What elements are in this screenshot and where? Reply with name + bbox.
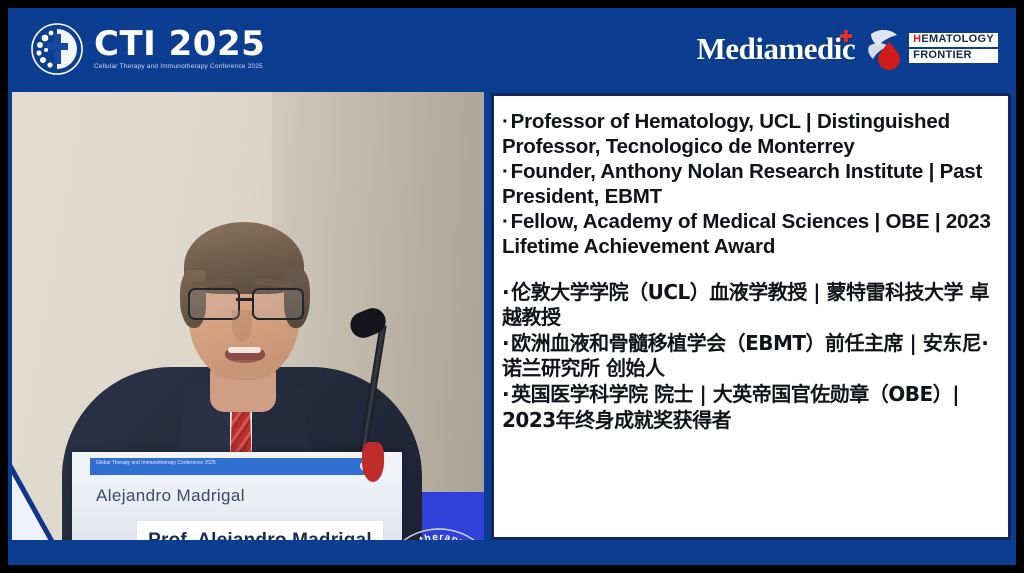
nose (232, 310, 252, 342)
chinese-bullet-list: 伦敦大学学院（UCL）血液学教授 | 蒙特雷科技大学 卓越教授 欧洲血液和骨髓移… (502, 280, 998, 433)
list-item: Founder, Anthony Nolan Research Institut… (502, 160, 998, 209)
mediamedic-wordmark: Mediamedic (697, 31, 856, 66)
podium-band-text: Global Therapy and Immunotherapy Confere… (96, 460, 216, 467)
podium-nameplate: Alejandro Madrigal (96, 486, 245, 506)
glasses-bridge (236, 298, 254, 301)
conference-subtitle: Cellular Therapy and Immunotherapy Confe… (94, 64, 265, 71)
medical-cross-icon: ✚ (839, 30, 852, 46)
list-item: 英国医学科学院 院士 | 大英帝国官佐勋章（OBE）| 2023年终身成就奖获得… (502, 382, 998, 432)
conference-title: CTI 2025 (94, 27, 265, 61)
partner-name-line1: HEMATOLOGY (909, 33, 998, 47)
partner-name-rest: EMATOLOGY (921, 33, 994, 45)
bio-card: Professor of Hematology, UCL | Distingui… (491, 93, 1011, 540)
video-frame: CTI 2025 Cellular Therapy and Immunother… (0, 0, 1024, 573)
slide-bottom-band (8, 540, 1016, 565)
chin (212, 360, 276, 382)
teeth (228, 347, 261, 353)
bio-card-inner: Professor of Hematology, UCL | Distingui… (494, 96, 1008, 537)
list-item: 伦敦大学学院（UCL）血液学教授 | 蒙特雷科技大学 卓越教授 (502, 280, 998, 330)
list-item: Fellow, Academy of Medical Sciences | OB… (502, 210, 998, 259)
list-item: Professor of Hematology, UCL | Distingui… (502, 110, 998, 159)
speaker-photo: Global Therapy and Immunotherapy Confere… (12, 92, 484, 565)
cti-emblem-icon (30, 22, 84, 76)
list-item: 欧洲血液和骨髓移植学会（EBMT）前任主席 | 安东尼·诺兰研究所 创始人 (502, 331, 998, 381)
mediamedic-logo: Mediamedic ✚ (697, 33, 856, 64)
presentation-slide: CTI 2025 Cellular Therapy and Immunother… (8, 8, 1016, 565)
partner-logos: Mediamedic ✚ HEMATOLOGY FRONTIER (697, 26, 998, 70)
podium-header-band: Global Therapy and Immunotherapy Confere… (90, 458, 378, 475)
glasses-lens-right (252, 288, 304, 320)
podium-red-accent (362, 442, 384, 482)
english-bullet-list: Professor of Hematology, UCL | Distingui… (502, 110, 998, 260)
slide-header: CTI 2025 Cellular Therapy and Immunother… (8, 8, 1016, 92)
conference-logo: CTI 2025 Cellular Therapy and Immunother… (30, 22, 265, 76)
blood-drop-icon (865, 26, 905, 70)
partner-name-line2: FRONTIER (909, 49, 998, 63)
hematology-frontier-logo: HEMATOLOGY FRONTIER (865, 26, 998, 70)
